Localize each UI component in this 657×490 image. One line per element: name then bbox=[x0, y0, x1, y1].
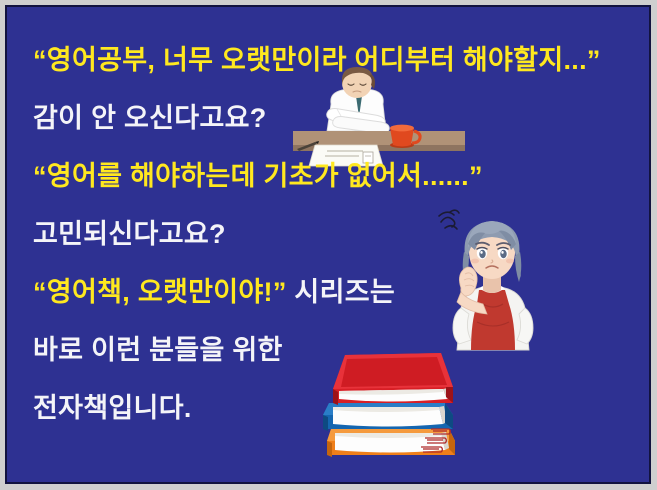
line-7-segment-1: 전자책입니다. bbox=[33, 393, 192, 423]
line-4-segment-1: 고민되신다고요? bbox=[33, 219, 226, 249]
slide-line-5: “영어책, 오랫만이야!” 시리즈는 bbox=[33, 263, 648, 321]
slide-line-4: 고민되신다고요? bbox=[33, 205, 648, 263]
slide-line-3: “영어를 해야하는데 기초가 없어서......” bbox=[33, 147, 648, 205]
slide-line-2: 감이 안 오신다고요? bbox=[33, 89, 648, 147]
line-5-segment-1: “영어책, 오랫만이야!” bbox=[33, 277, 287, 307]
line-6-segment-1: 바로 이런 분들을 위한 bbox=[33, 335, 283, 365]
line-2-segment-1: 감이 안 오신다고요? bbox=[33, 103, 267, 133]
slide-line-1: “영어공부, 너무 오랫만이라 어디부터 해야할지...” bbox=[33, 31, 648, 89]
line-5-segment-2: 시리즈는 bbox=[287, 277, 395, 307]
slide-frame: “영어공부, 너무 오랫만이라 어디부터 해야할지...” 감이 안 오신다고요… bbox=[0, 0, 657, 490]
slide-line-7: 전자책입니다. bbox=[33, 379, 648, 437]
line-1-segment-1: “영어공부, 너무 오랫만이라 어디부터 해야할지...” bbox=[33, 45, 601, 75]
slide-text-block: “영어공부, 너무 오랫만이라 어디부터 해야할지...” 감이 안 오신다고요… bbox=[33, 31, 648, 437]
slide-line-6: 바로 이런 분들을 위한 bbox=[33, 321, 648, 379]
line-3-segment-1: “영어를 해야하는데 기초가 없어서......” bbox=[33, 161, 483, 191]
slide-canvas: “영어공부, 너무 오랫만이라 어디부터 해야할지...” 감이 안 오신다고요… bbox=[5, 5, 651, 484]
